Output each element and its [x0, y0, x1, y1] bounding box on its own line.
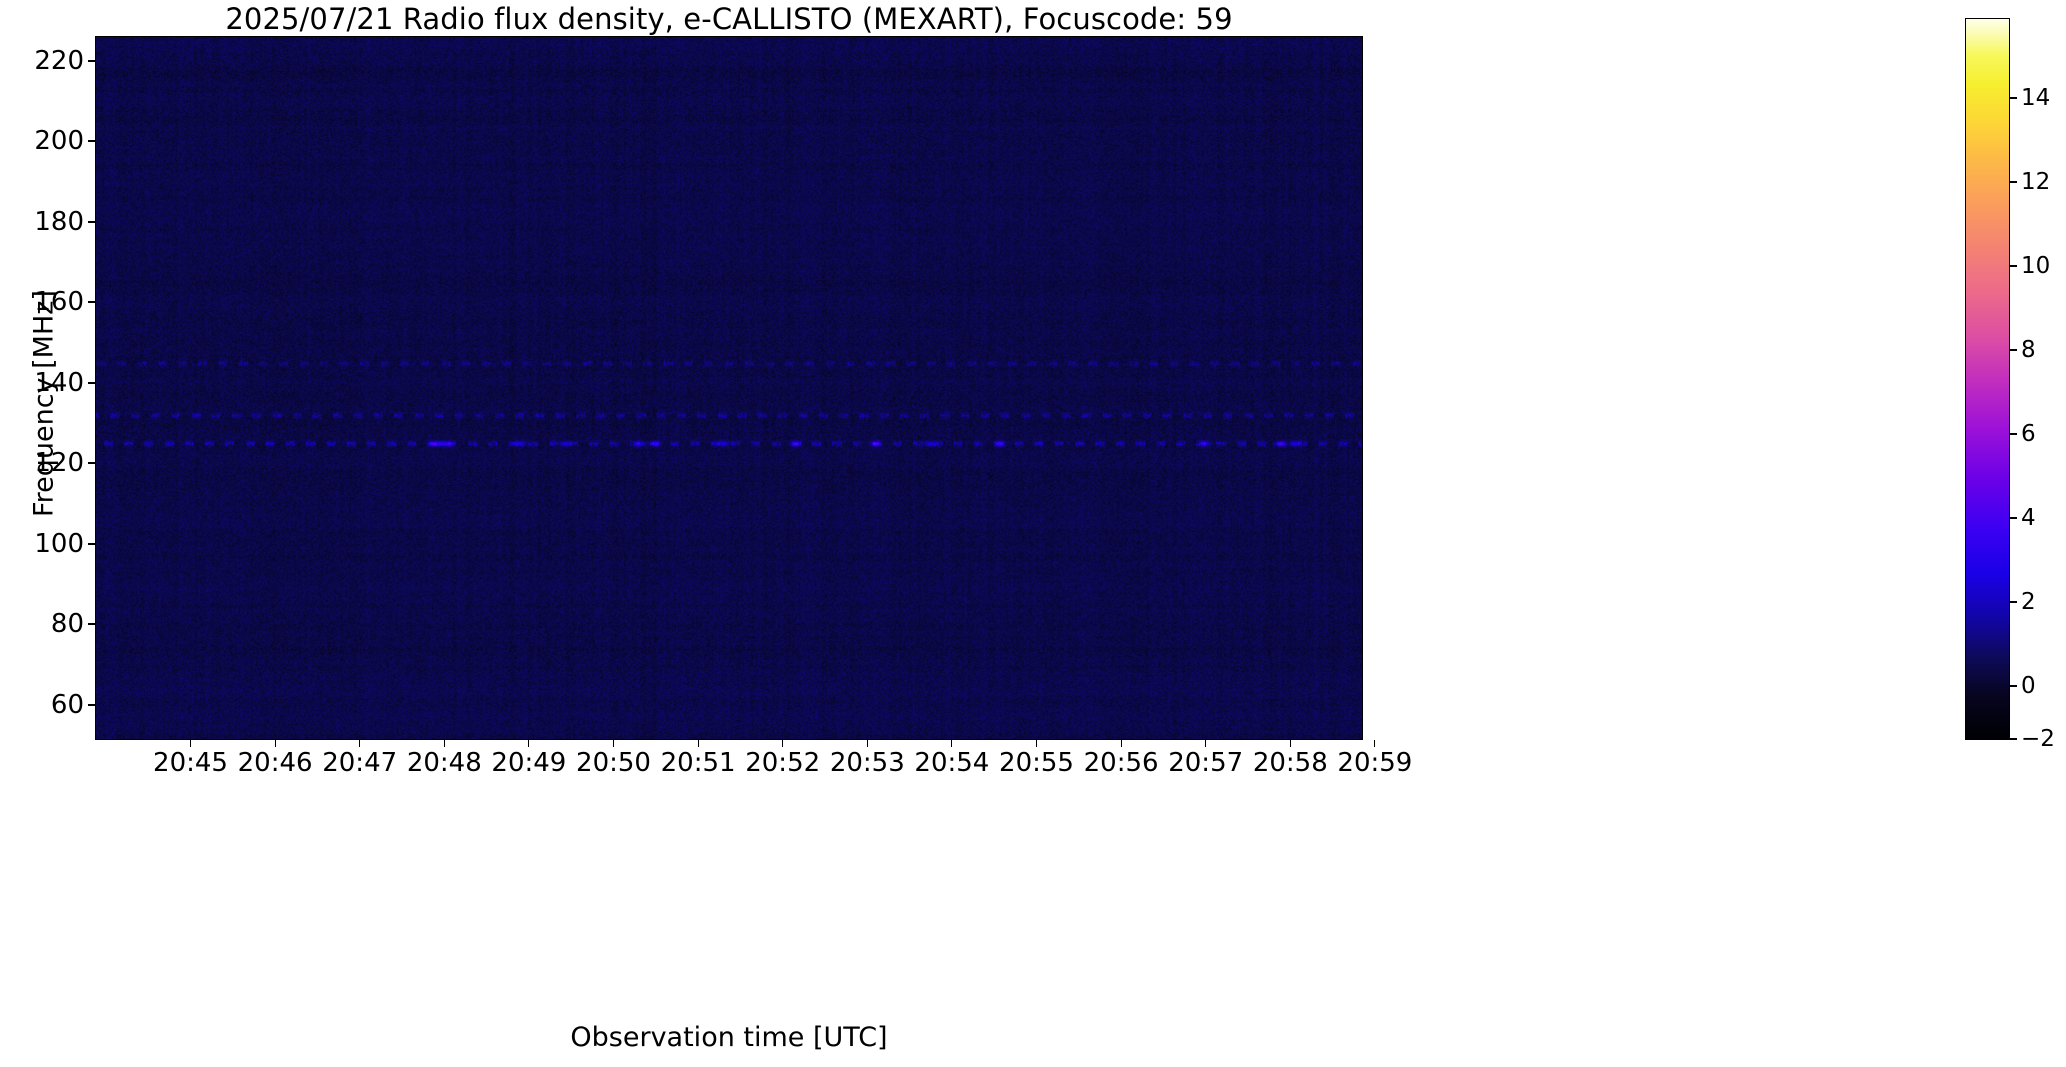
x-tick-mark: [275, 740, 276, 747]
colorbar-tick-label: 8: [2021, 337, 2036, 363]
colorbar-tick-label: −2: [2021, 726, 2055, 752]
y-tick-mark: [88, 704, 95, 705]
x-tick-label: 20:45: [153, 748, 228, 778]
y-tick-mark: [88, 60, 95, 61]
y-tick-label: 100: [14, 529, 84, 559]
y-tick-mark: [88, 543, 95, 544]
colorbar-tick-label: 4: [2021, 505, 2036, 531]
colorbar-tick-label: 6: [2021, 421, 2036, 447]
x-tick-mark: [1036, 740, 1037, 747]
colorbar-tick-label: 2: [2021, 589, 2036, 615]
colorbar-tick-mark: [2010, 181, 2017, 182]
y-tick-label: 220: [14, 46, 84, 76]
page-title: 2025/07/21 Radio flux density, e-CALLIST…: [95, 2, 1363, 36]
colorbar-tick-label: 10: [2021, 253, 2050, 279]
spectrogram-plot-area[interactable]: [95, 36, 1363, 740]
y-tick-label: 140: [14, 368, 84, 398]
colorbar-tick-label: 12: [2021, 169, 2050, 195]
x-tick-mark: [528, 740, 529, 747]
x-tick-label: 20:57: [1168, 748, 1243, 778]
colorbar[interactable]: [1965, 18, 2010, 740]
y-tick-mark: [88, 623, 95, 624]
y-tick-mark: [88, 462, 95, 463]
y-tick-mark: [88, 140, 95, 141]
colorbar-tick-mark: [2010, 97, 2017, 98]
x-axis-label: Observation time [UTC]: [95, 1022, 1363, 1053]
colorbar-tick-mark: [2010, 433, 2017, 434]
y-tick-mark: [88, 301, 95, 302]
y-tick-label: 200: [14, 126, 84, 156]
y-tick-label: 160: [14, 287, 84, 317]
x-tick-label: 20:55: [999, 748, 1074, 778]
x-tick-mark: [1374, 740, 1375, 747]
y-tick-mark: [88, 221, 95, 222]
colorbar-tick-mark: [2010, 685, 2017, 686]
x-tick-label: 20:54: [914, 748, 989, 778]
y-tick-label: 80: [14, 609, 84, 639]
x-tick-label: 20:49: [491, 748, 566, 778]
x-tick-mark: [867, 740, 868, 747]
x-tick-mark: [782, 740, 783, 747]
x-tick-label: 20:52: [745, 748, 820, 778]
y-tick-label: 180: [14, 207, 84, 237]
colorbar-tick-mark: [2010, 517, 2017, 518]
x-tick-mark: [444, 740, 445, 747]
x-tick-mark: [698, 740, 699, 747]
x-tick-mark: [951, 740, 952, 747]
figure-canvas: 2025/07/21 Radio flux density, e-CALLIST…: [0, 0, 2066, 1067]
colorbar-tick-label: 0: [2021, 673, 2036, 699]
colorbar-tick-mark: [2010, 738, 2017, 739]
y-tick-label: 120: [14, 448, 84, 478]
x-tick-label: 20:50: [576, 748, 651, 778]
colorbar-tick-mark: [2010, 349, 2017, 350]
y-tick-label: 60: [14, 690, 84, 720]
x-tick-label: 20:56: [1084, 748, 1159, 778]
x-tick-label: 20:53: [830, 748, 905, 778]
x-tick-mark: [613, 740, 614, 747]
x-tick-label: 20:47: [322, 748, 397, 778]
colorbar-tick-mark: [2010, 265, 2017, 266]
x-tick-label: 20:59: [1337, 748, 1412, 778]
y-tick-mark: [88, 382, 95, 383]
x-tick-label: 20:51: [661, 748, 736, 778]
x-tick-mark: [1205, 740, 1206, 747]
x-tick-mark: [1121, 740, 1122, 747]
x-tick-label: 20:48: [407, 748, 482, 778]
colorbar-tick-mark: [2010, 601, 2017, 602]
colorbar-gradient: [1966, 19, 2009, 739]
x-tick-mark: [359, 740, 360, 747]
y-axis-label: Frequency [MHz]: [29, 52, 60, 756]
x-tick-mark: [190, 740, 191, 747]
colorbar-tick-label: 14: [2021, 85, 2050, 111]
x-tick-label: 20:46: [238, 748, 313, 778]
x-tick-label: 20:58: [1253, 748, 1328, 778]
x-tick-mark: [1290, 740, 1291, 747]
spectrogram-image: [96, 37, 1362, 739]
